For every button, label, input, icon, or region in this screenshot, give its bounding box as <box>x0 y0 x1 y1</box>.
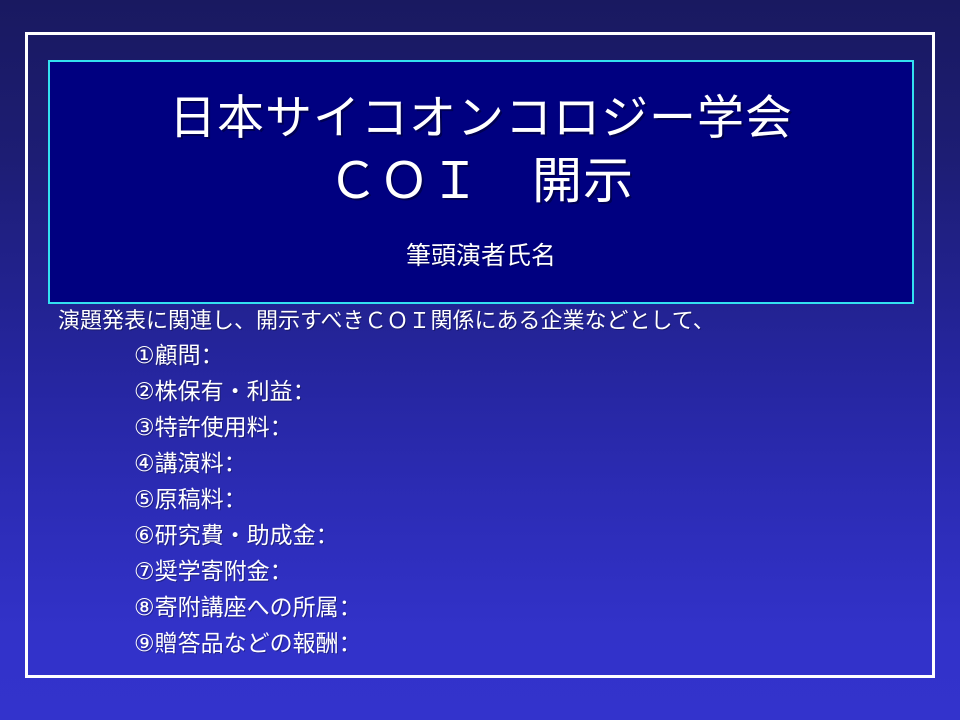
title-box: 日本サイコオンコロジー学会 ＣＯＩ 開示 筆頭演者氏名 <box>48 60 914 304</box>
list-item-label: 寄附講座への所属： <box>155 595 362 621</box>
title-line-2: ＣＯＩ 開示 <box>50 150 912 212</box>
body-block: 演題発表に関連し、開示すべきＣＯＩ関係にある企業などとして、 ①顧問： ②株保有… <box>48 306 928 662</box>
list-item-label: 贈答品などの報酬： <box>155 631 362 657</box>
list-item-marker: ④ <box>134 451 155 477</box>
list-item-label: 奨学寄附金： <box>155 559 293 585</box>
coi-item-list: ①顧問： ②株保有・利益： ③特許使用料： ④講演料： ⑤原稿料： ⑥研究費・助… <box>48 338 928 662</box>
list-item-label: 研究費・助成金： <box>155 523 339 549</box>
list-item: ②株保有・利益： <box>134 374 928 410</box>
list-item-label: 顧問： <box>155 343 224 369</box>
list-item-marker: ⑧ <box>134 595 155 621</box>
list-item: ①顧問： <box>134 338 928 374</box>
list-item-marker: ② <box>134 379 155 405</box>
slide-canvas: 日本サイコオンコロジー学会 ＣＯＩ 開示 筆頭演者氏名 演題発表に関連し、開示す… <box>0 0 960 720</box>
title-line-1: 日本サイコオンコロジー学会 <box>50 90 912 148</box>
list-item: ⑨贈答品などの報酬： <box>134 626 928 662</box>
list-item-label: 原稿料： <box>155 487 247 513</box>
list-item-label: 特許使用料： <box>155 415 293 441</box>
list-item: ③特許使用料： <box>134 410 928 446</box>
list-item: ⑦奨学寄附金： <box>134 554 928 590</box>
list-item: ⑧寄附講座への所属： <box>134 590 928 626</box>
lead-sentence: 演題発表に関連し、開示すべきＣＯＩ関係にある企業などとして、 <box>48 306 928 338</box>
presenter-name: 筆頭演者氏名 <box>50 240 912 272</box>
list-item-label: 講演料： <box>155 451 247 477</box>
list-item-marker: ① <box>134 343 155 369</box>
list-item: ④講演料： <box>134 446 928 482</box>
list-item: ⑤原稿料： <box>134 482 928 518</box>
list-item: ⑥研究費・助成金： <box>134 518 928 554</box>
list-item-marker: ⑦ <box>134 559 155 585</box>
list-item-label: 株保有・利益： <box>155 379 316 405</box>
list-item-marker: ③ <box>134 415 155 441</box>
list-item-marker: ⑥ <box>134 523 155 549</box>
list-item-marker: ⑨ <box>134 631 155 657</box>
list-item-marker: ⑤ <box>134 487 155 513</box>
